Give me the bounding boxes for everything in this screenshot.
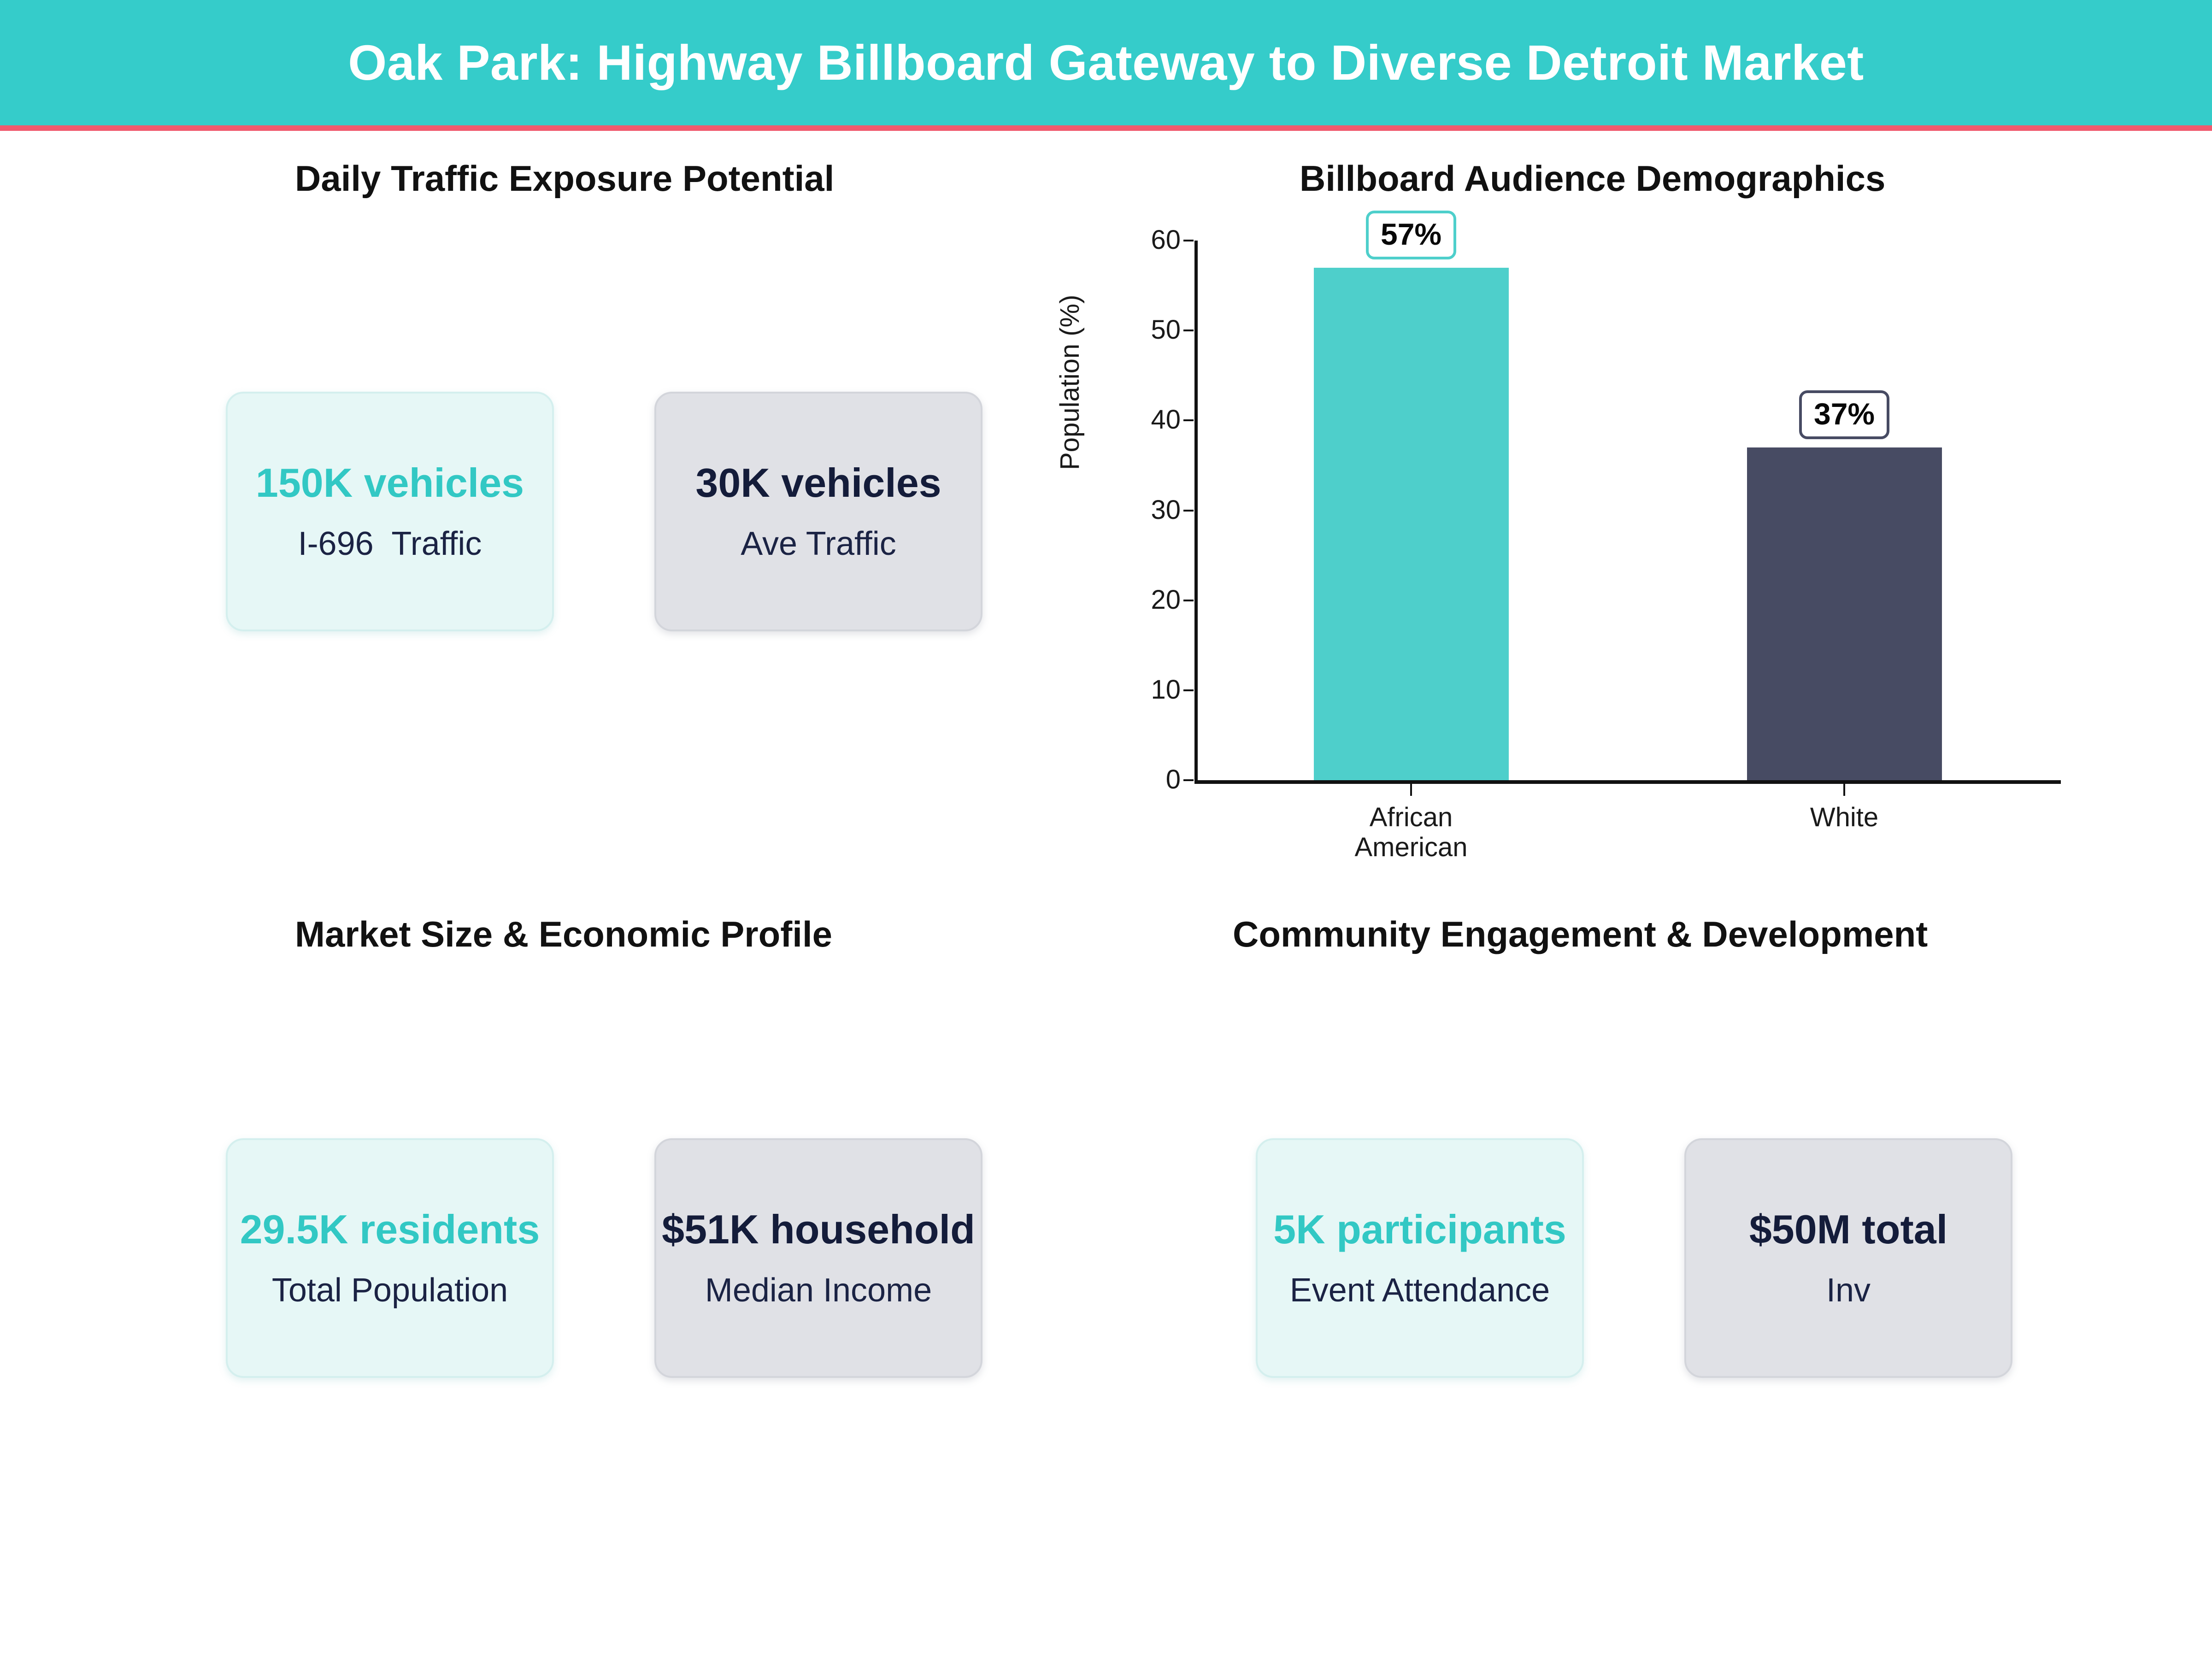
kpi-value: 150K vehicles bbox=[256, 463, 524, 503]
section-title-traffic: Daily Traffic Exposure Potential bbox=[295, 160, 834, 196]
y-axis-tick-mark bbox=[1183, 689, 1194, 691]
y-axis-tick-label: 0 bbox=[1098, 766, 1181, 793]
x-axis-tick-mark bbox=[1410, 784, 1412, 796]
y-axis-tick-mark bbox=[1183, 419, 1194, 421]
header-accent-rule bbox=[0, 125, 2212, 131]
x-axis-tick-mark bbox=[1843, 784, 1845, 796]
y-axis-tick-label: 10 bbox=[1098, 677, 1181, 703]
demographics-bar-chart: Population (%) 0102030405060 AfricanAmer… bbox=[1097, 212, 2088, 857]
section-title-community: Community Engagement & Development bbox=[1233, 916, 1928, 952]
x-axis-tick-label-line: American bbox=[1194, 833, 1628, 863]
y-axis-tick-mark bbox=[1183, 779, 1194, 781]
bar bbox=[1747, 447, 1942, 780]
x-axis-tick-label: AfricanAmerican bbox=[1194, 803, 1628, 863]
y-axis-tick-label: 50 bbox=[1098, 317, 1181, 343]
kpi-label: Inv bbox=[1826, 1274, 1871, 1307]
y-axis-spine bbox=[1194, 241, 1198, 782]
y-axis-tick-label: 30 bbox=[1098, 497, 1181, 524]
kpi-value: 5K participants bbox=[1273, 1209, 1566, 1250]
kpi-card-total-population: 29.5K residents Total Population bbox=[226, 1138, 554, 1378]
kpi-value: $51K household bbox=[662, 1209, 975, 1250]
page-title: Oak Park: Highway Billboard Gateway to D… bbox=[348, 38, 1864, 88]
bar-value-label: 57% bbox=[1366, 211, 1456, 259]
kpi-card-median-income: $51K household Median Income bbox=[654, 1138, 982, 1378]
bar-value-label: 37% bbox=[1799, 390, 1889, 439]
bar bbox=[1314, 268, 1509, 780]
kpi-label: Total Population bbox=[272, 1274, 508, 1307]
kpi-value: 29.5K residents bbox=[240, 1209, 540, 1250]
x-axis-tick-label-line: White bbox=[1628, 803, 2061, 833]
page-header: Oak Park: Highway Billboard Gateway to D… bbox=[0, 0, 2212, 125]
section-title-demographics: Billboard Audience Demographics bbox=[1300, 160, 1885, 196]
y-axis-tick-mark bbox=[1183, 329, 1194, 331]
y-axis-tick-label: 60 bbox=[1098, 227, 1181, 253]
kpi-card-event-attendance: 5K participants Event Attendance bbox=[1256, 1138, 1584, 1378]
y-axis-tick-label: 40 bbox=[1098, 406, 1181, 433]
x-axis-spine bbox=[1194, 780, 2061, 784]
y-axis-tick-mark bbox=[1183, 240, 1194, 241]
y-axis-label: Population (%) bbox=[1054, 295, 1085, 470]
kpi-card-ave-traffic: 30K vehicles Ave Traffic bbox=[654, 392, 982, 631]
kpi-value: $50M total bbox=[1749, 1209, 1947, 1250]
kpi-label: Event Attendance bbox=[1290, 1274, 1550, 1307]
y-axis-tick-label: 20 bbox=[1098, 587, 1181, 613]
section-title-market: Market Size & Economic Profile bbox=[295, 916, 832, 952]
kpi-label: Ave Traffic bbox=[741, 527, 896, 560]
kpi-label: I-696 Traffic bbox=[298, 527, 482, 560]
kpi-card-total-investment: $50M total Inv bbox=[1684, 1138, 2012, 1378]
kpi-label: Median Income bbox=[705, 1274, 932, 1307]
x-axis-tick-label-line: African bbox=[1194, 803, 1628, 833]
kpi-value: 30K vehicles bbox=[695, 463, 941, 503]
y-axis-tick-mark bbox=[1183, 510, 1194, 512]
x-axis-tick-label: White bbox=[1628, 803, 2061, 833]
kpi-card-i696-traffic: 150K vehicles I-696 Traffic bbox=[226, 392, 554, 631]
y-axis-tick-mark bbox=[1183, 600, 1194, 601]
